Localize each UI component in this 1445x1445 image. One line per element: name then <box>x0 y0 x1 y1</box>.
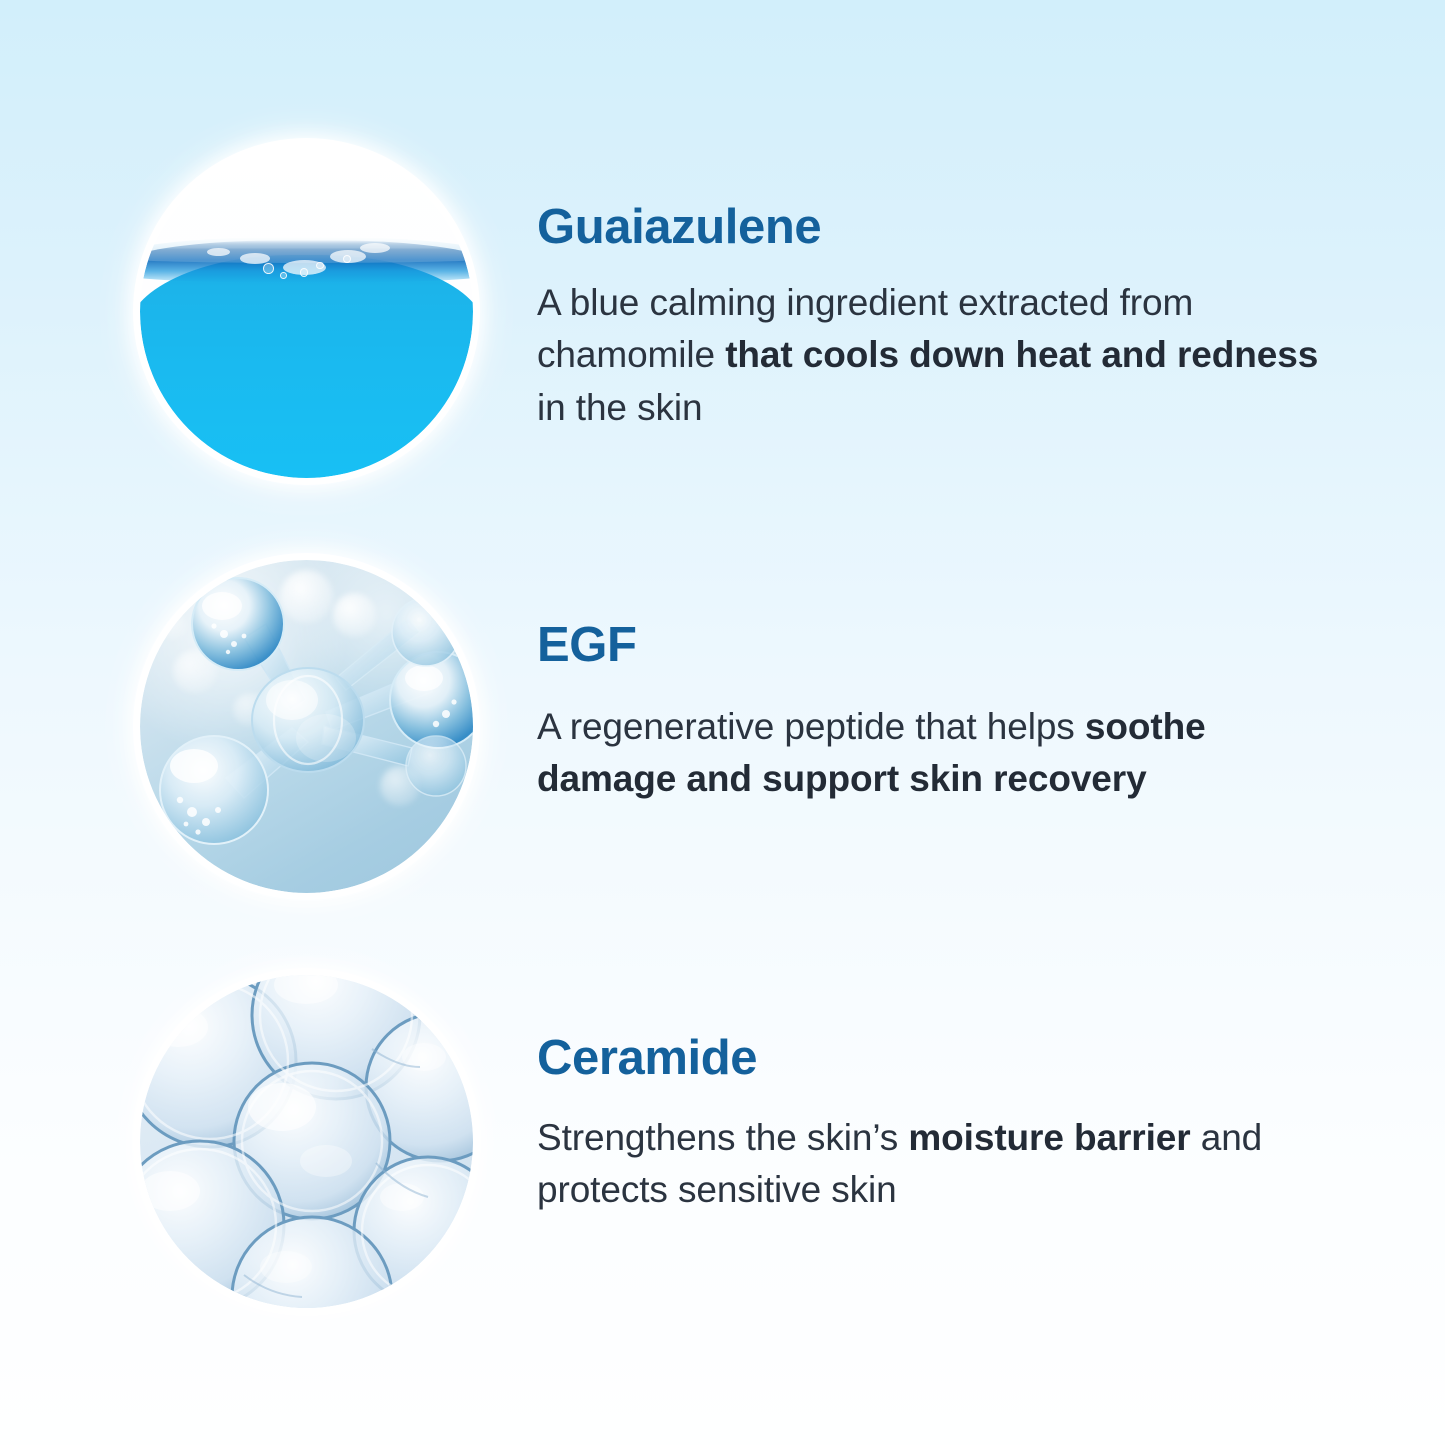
water-wave-circle-image <box>140 145 473 478</box>
ingredient-title: Guaiazulene <box>537 202 1367 253</box>
molecule-structure-icon <box>140 560 473 893</box>
ingredient-copy: EGF A regenerative peptide that helps so… <box>537 620 1367 806</box>
bubbles-circle-image <box>140 975 473 1308</box>
emphasis-text: moisture barrier <box>908 1117 1190 1158</box>
ingredient-description: A blue calming ingredient extracted from… <box>537 277 1327 435</box>
ingredient-title: Ceramide <box>537 1033 1367 1084</box>
bubble-cluster-icon <box>140 975 473 1308</box>
water-bubble <box>280 272 287 279</box>
water-body <box>140 255 473 478</box>
ingredient-copy: Ceramide Strengthens the skin’s moisture… <box>537 1033 1367 1217</box>
plain-text: Strengthens the skin’s <box>537 1117 908 1158</box>
plain-text: A regenerative peptide that helps <box>537 706 1085 747</box>
water-bubble <box>343 255 351 263</box>
ingredient-infographic: Guaiazulene A blue calming ingredient ex… <box>0 0 1445 1445</box>
ingredient-copy: Guaiazulene A blue calming ingredient ex… <box>537 202 1367 435</box>
water-foam <box>240 253 270 264</box>
ingredient-title: EGF <box>537 620 1367 671</box>
ingredient-description: Strengthens the skin’s moisture barrier … <box>537 1112 1327 1217</box>
water-bubble <box>263 263 274 274</box>
emphasis-text: that cools down heat and redness <box>725 334 1318 375</box>
water-bubble <box>316 262 323 269</box>
molecule-circle-image <box>140 560 473 893</box>
ingredient-description: A regenerative peptide that helps soothe… <box>537 701 1327 806</box>
plain-text: in the skin <box>537 387 703 428</box>
